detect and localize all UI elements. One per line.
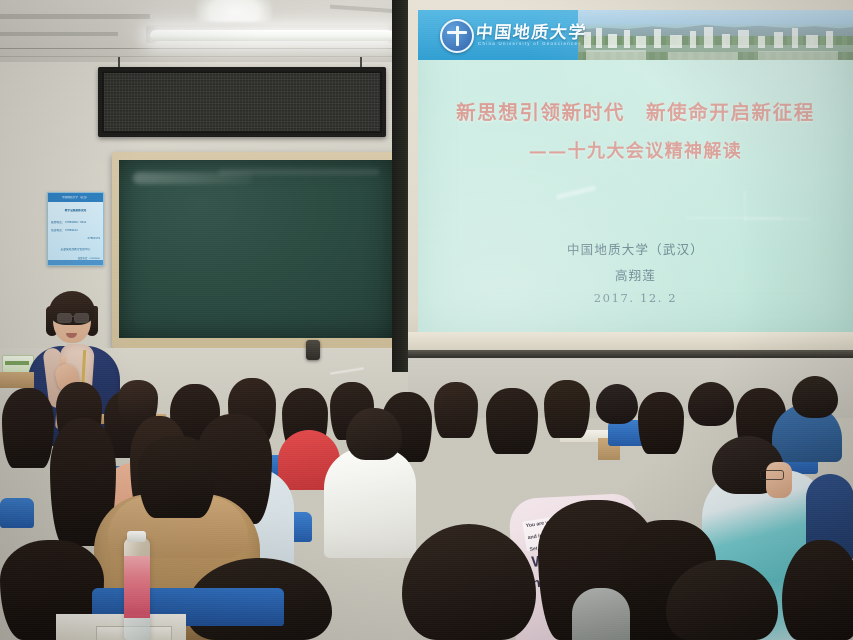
- ceiling-glare: [196, 0, 272, 22]
- building: [624, 30, 630, 48]
- student-ear-area: [766, 462, 792, 498]
- bottle-cap: [127, 531, 146, 542]
- slide-subtitle: ——十九大会议精神解读: [418, 137, 853, 163]
- student-hair: [544, 380, 590, 438]
- eyeglasses-icon: [760, 470, 784, 480]
- slide-header-band: 中国地质大学 China University of Geosciences: [418, 10, 853, 60]
- student-hair: [792, 376, 838, 418]
- maintenance-notice-sign: 中国地质大学（武汉） 教学设施报修须知 报修电话： 67883999／8911 …: [47, 192, 104, 266]
- ceiling-seam: [0, 48, 430, 49]
- campus-panorama-photo: [578, 10, 853, 60]
- led-display-board: [98, 67, 386, 137]
- sign-line-3: 67883179: [51, 237, 100, 242]
- building: [758, 36, 765, 48]
- logo-cross-vertical: [456, 26, 459, 46]
- eyeglasses-bridge: [70, 316, 75, 317]
- screen-blemish: [744, 218, 810, 220]
- wall-speaker-icon: [306, 340, 320, 360]
- building-row: [668, 52, 738, 60]
- building: [690, 31, 696, 48]
- student-hair: [486, 388, 538, 454]
- building: [704, 27, 713, 48]
- chalkboard-frame: [112, 152, 400, 348]
- slide-presenter-name: 高翔莲: [418, 265, 853, 284]
- screen-mount-rail: [408, 350, 853, 358]
- sign-line-2: 值班电话： 67883123: [51, 229, 100, 234]
- building: [774, 32, 783, 48]
- student-hair-highlight: [572, 588, 630, 640]
- chalk-smudge: [219, 169, 379, 175]
- logo-english-name: China University of Geosciences: [478, 41, 582, 46]
- slide-logo-area: 中国地质大学 China University of Geosciences: [418, 10, 578, 60]
- student-hair: [346, 408, 402, 460]
- building-row: [586, 50, 646, 60]
- building: [806, 35, 818, 48]
- sign-line-1: 报修电话： 67883999／8911: [51, 221, 100, 226]
- eyeglasses-icon: [57, 313, 72, 323]
- shelf-box-label: [5, 361, 29, 365]
- desk-surface: [0, 372, 34, 388]
- ceiling-seam: [0, 56, 430, 57]
- student-hair: [138, 436, 216, 518]
- projection-screen: 中国地质大学 China University of Geosciences 新…: [418, 10, 853, 332]
- building: [654, 29, 661, 48]
- sign-line-4: 后勤保障部教室管理中心: [51, 248, 100, 253]
- screen-bottom-ledge: [408, 332, 853, 350]
- eyeglasses-icon: [74, 313, 89, 323]
- slide-date: 2017. 12. 2: [418, 291, 853, 305]
- student-hair: [638, 392, 684, 454]
- building: [596, 28, 602, 48]
- slide-organization: 中国地质大学（武汉）: [418, 239, 853, 258]
- lecture-hall-screenshot: 中国地质大学（武汉） 教学设施报修须知 报修电话： 67883999／8911 …: [0, 0, 853, 640]
- ceiling-beam: [0, 32, 118, 36]
- building: [670, 35, 682, 48]
- student-hair: [688, 382, 734, 426]
- student-hair: [596, 384, 638, 424]
- building: [722, 34, 730, 48]
- building: [826, 31, 833, 48]
- student-white-hoodie: [324, 448, 416, 558]
- sign-header-text: 中国地质大学（武汉）: [51, 196, 100, 201]
- screen-blemish: [556, 185, 596, 200]
- building: [608, 34, 617, 48]
- ceiling-beam: [0, 14, 150, 19]
- chalkboard: [119, 160, 393, 338]
- slide-title: 新思想引领新时代 新使命开启新征程: [418, 96, 853, 125]
- led-pixel-grid: [104, 73, 380, 131]
- building: [738, 30, 749, 48]
- sign-title: 教学设施报修须知: [51, 209, 100, 214]
- chair-back: [0, 498, 34, 528]
- building: [636, 36, 646, 48]
- logo-cross-horizontal: [447, 31, 467, 34]
- fluorescent-tube-light: [150, 30, 394, 41]
- logo-chinese-name: 中国地质大学: [475, 18, 589, 43]
- sign-footer-bar: [48, 260, 103, 265]
- bottle-label: [124, 556, 150, 618]
- building-row: [758, 51, 838, 60]
- student-hair: [2, 388, 54, 468]
- building: [792, 28, 798, 48]
- cross-circle-icon: [440, 19, 474, 53]
- distant-hills: [578, 20, 853, 36]
- student-hair: [434, 382, 478, 438]
